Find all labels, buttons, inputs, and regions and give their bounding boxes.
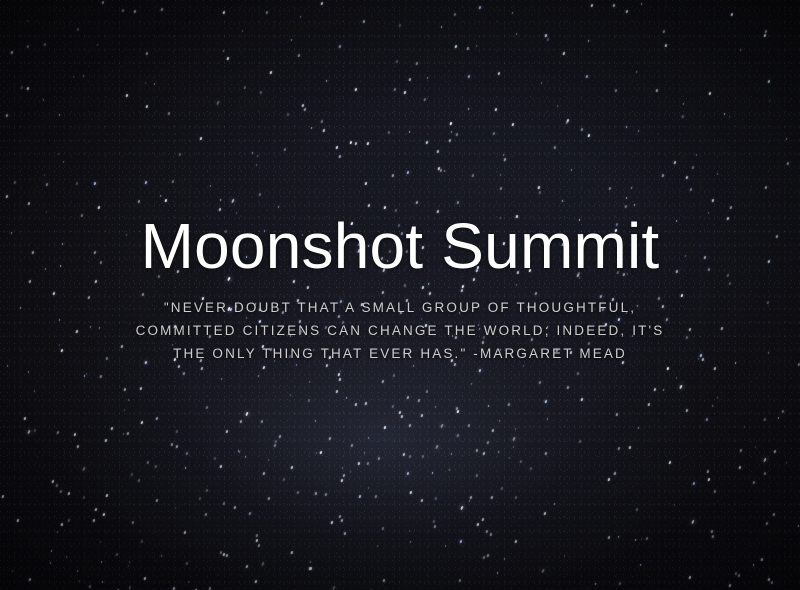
quote-line-1: "NEVER DOUBT THAT A SMALL GROUP OF THOUG… — [0, 296, 800, 319]
quote-block: "NEVER DOUBT THAT A SMALL GROUP OF THOUG… — [0, 296, 800, 365]
presentation-slide: Moonshot Summit "NEVER DOUBT THAT A SMAL… — [0, 0, 800, 590]
page-title: Moonshot Summit — [0, 214, 800, 278]
quote-line-3: THE ONLY THING THAT EVER HAS." -MARGARET… — [0, 342, 800, 365]
quote-line-2: COMMITTED CITIZENS CAN CHANGE THE WORLD;… — [0, 319, 800, 342]
text-overlay: Moonshot Summit "NEVER DOUBT THAT A SMAL… — [0, 0, 800, 590]
